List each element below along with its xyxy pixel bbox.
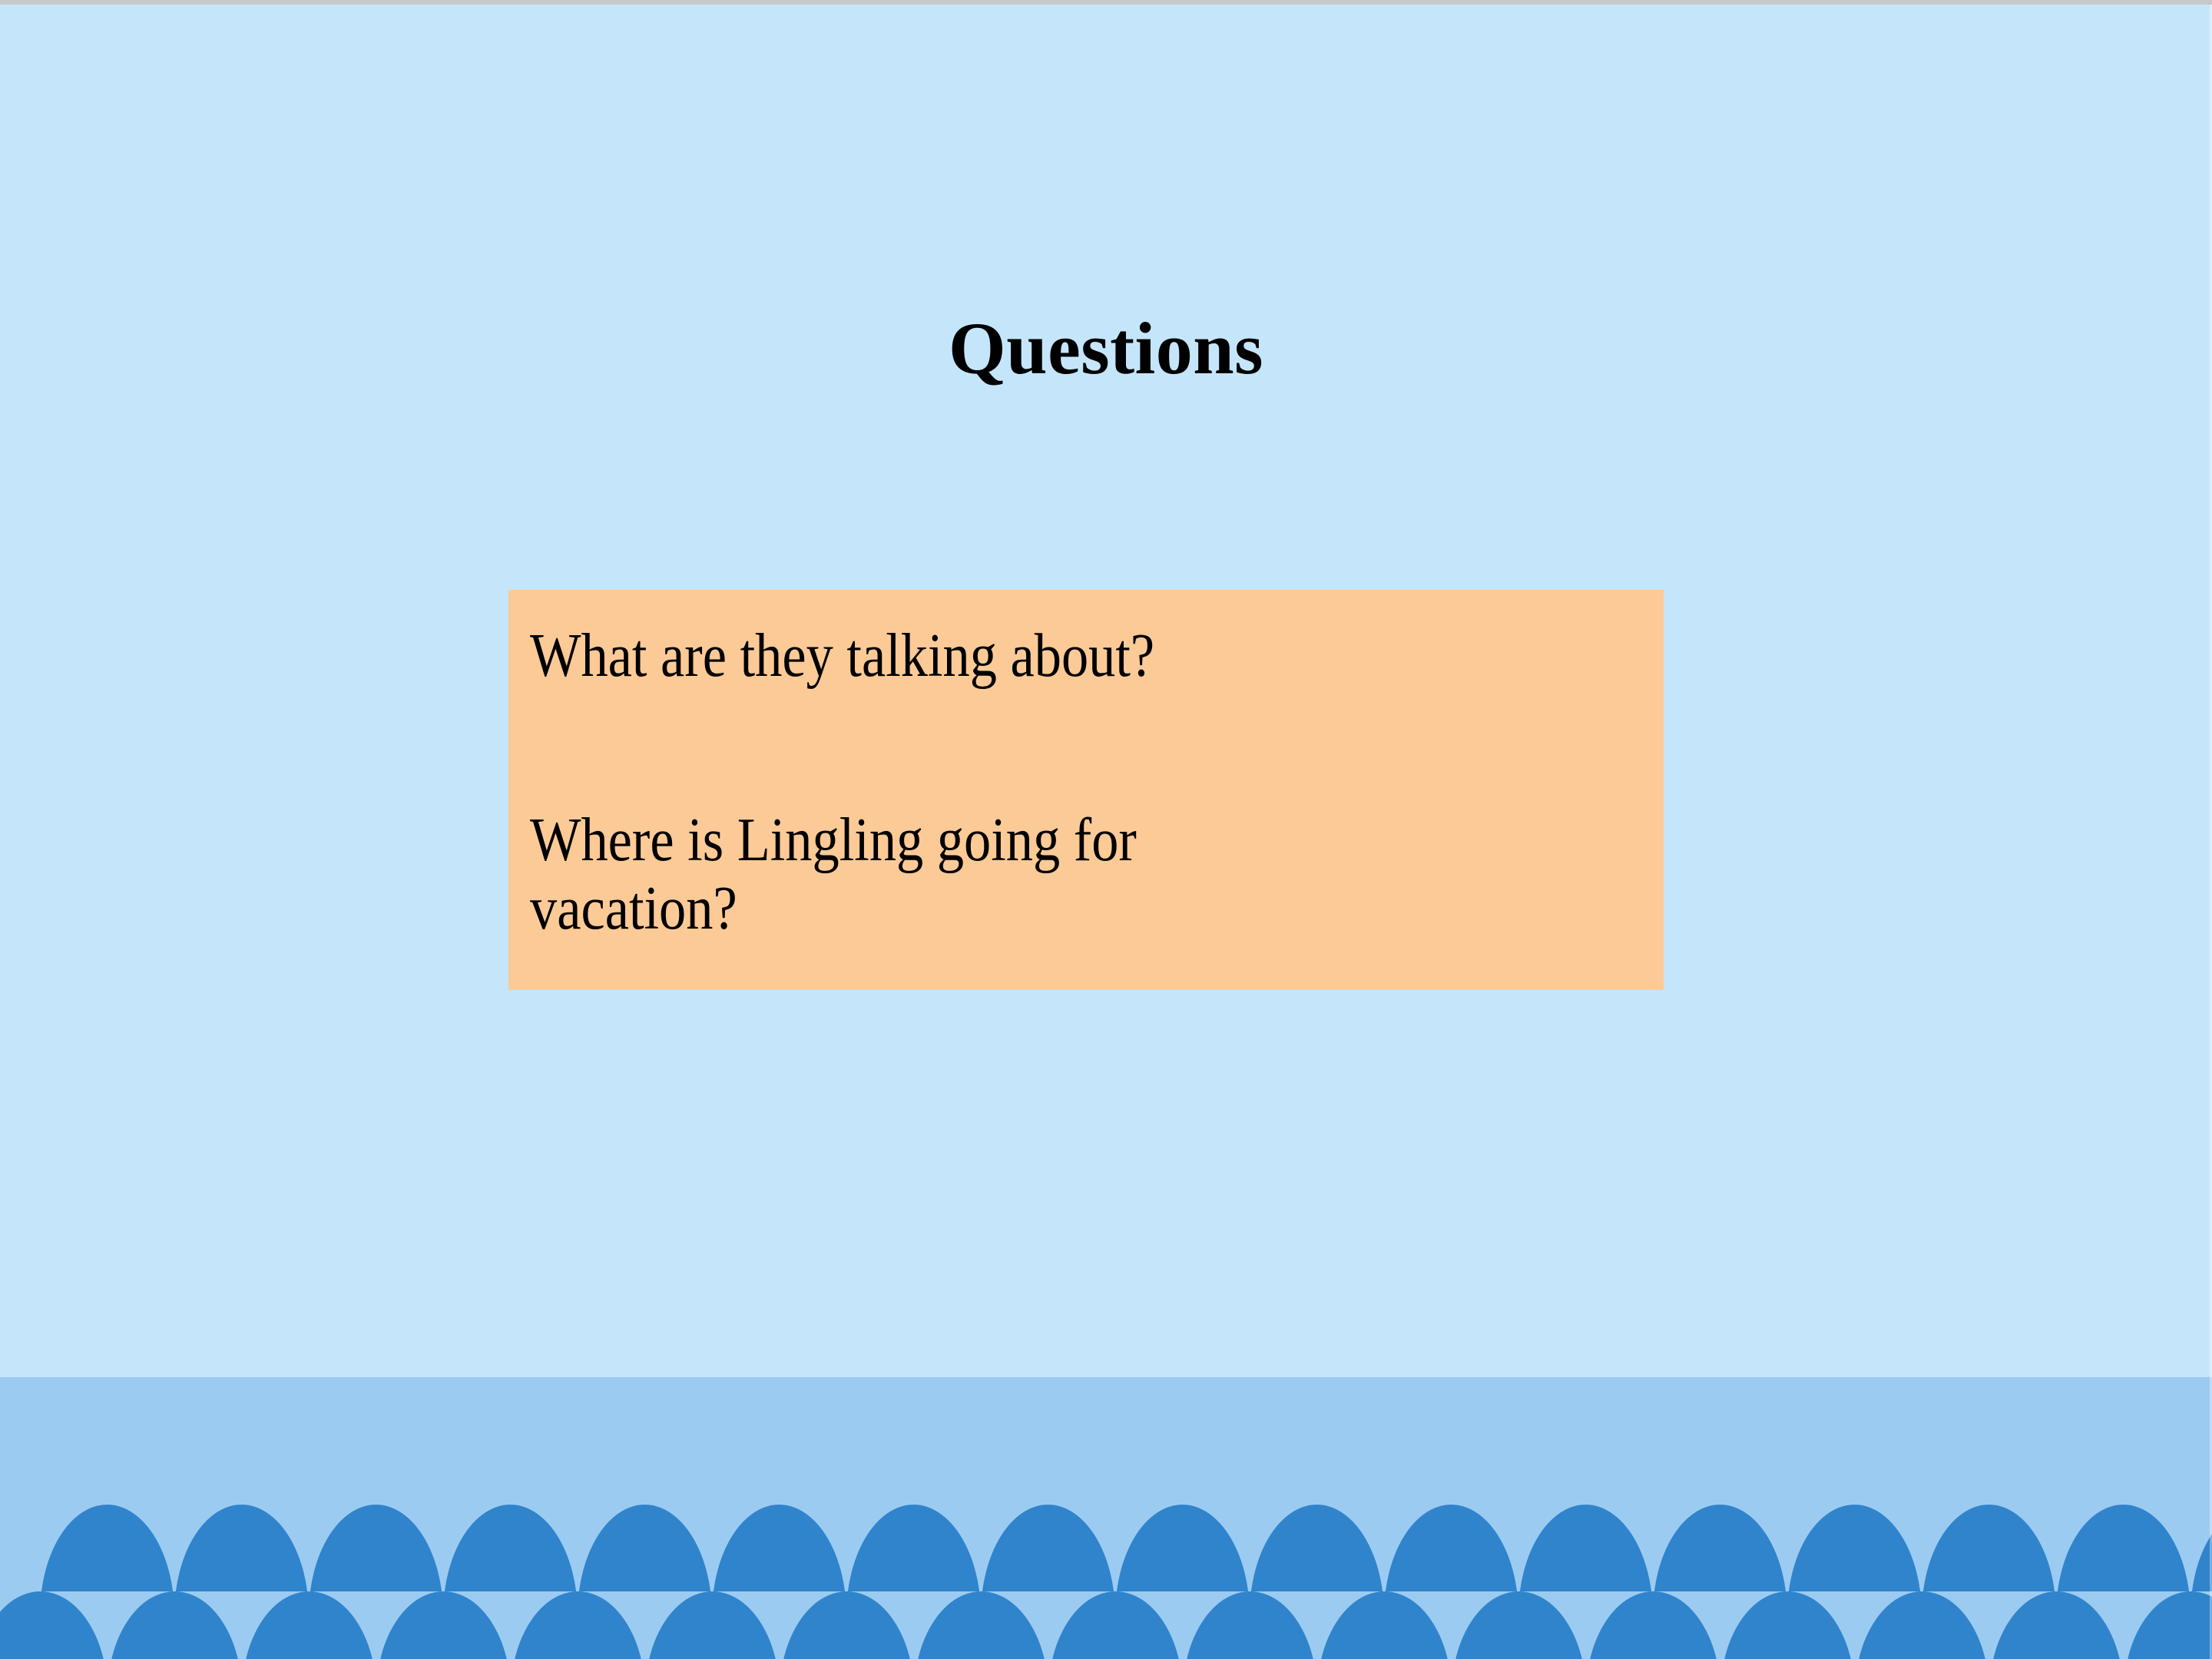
arch-shape [1115, 1505, 1250, 1591]
arch-shape [1653, 1505, 1787, 1591]
arch-shape [2056, 1505, 2190, 1591]
arch-shape [2190, 1505, 2212, 1591]
arch-shape [846, 1505, 981, 1591]
arch-shape [1922, 1505, 2056, 1591]
arch-shape [1048, 1591, 1183, 1659]
arch-shape [309, 1505, 443, 1591]
page-title: Questions [0, 308, 2212, 389]
arch-shape [108, 1591, 242, 1659]
arch-shape [0, 1591, 108, 1659]
arch-shape [376, 1591, 511, 1659]
question-line-2b: vacation? [530, 875, 1501, 944]
arch-shape [981, 1505, 1115, 1591]
arch-shape [1518, 1505, 1653, 1591]
arch-shape [1855, 1591, 1989, 1659]
arch-shape [40, 1505, 174, 1591]
arch-shape [1384, 1505, 1518, 1591]
arch-shape [174, 1505, 309, 1591]
arch-row-upper [0, 1505, 2212, 1591]
question-line-2a: Where is Lingling going for [530, 806, 1501, 876]
arch-shape [1989, 1591, 2124, 1659]
arch-shape [1787, 1505, 1922, 1591]
questions-content-box: What are they talking about? Where is Li… [508, 590, 1664, 990]
arch-shape [242, 1591, 376, 1659]
presentation-slide: Questions What are they talking about? W… [0, 0, 2212, 1659]
arch-shape [1586, 1591, 1720, 1659]
arch-shape [443, 1505, 578, 1591]
arch-shape [780, 1591, 914, 1659]
arch-shape [1250, 1505, 1384, 1591]
arch-shape [1183, 1591, 1317, 1659]
paragraph-spacer [530, 691, 1633, 806]
arch-shape [1317, 1591, 1452, 1659]
arch-shape [2124, 1591, 2212, 1659]
arch-shape [511, 1591, 645, 1659]
arch-shape [578, 1505, 712, 1591]
arch-shape [645, 1591, 780, 1659]
arch-row-lower [0, 1591, 2212, 1659]
arch-shape [914, 1591, 1048, 1659]
question-line-1: What are they talking about? [530, 622, 1501, 691]
arch-shape [712, 1505, 846, 1591]
arch-shape [1720, 1591, 1855, 1659]
bottom-decorative-band [0, 1377, 2212, 1659]
arch-shape [1452, 1591, 1586, 1659]
